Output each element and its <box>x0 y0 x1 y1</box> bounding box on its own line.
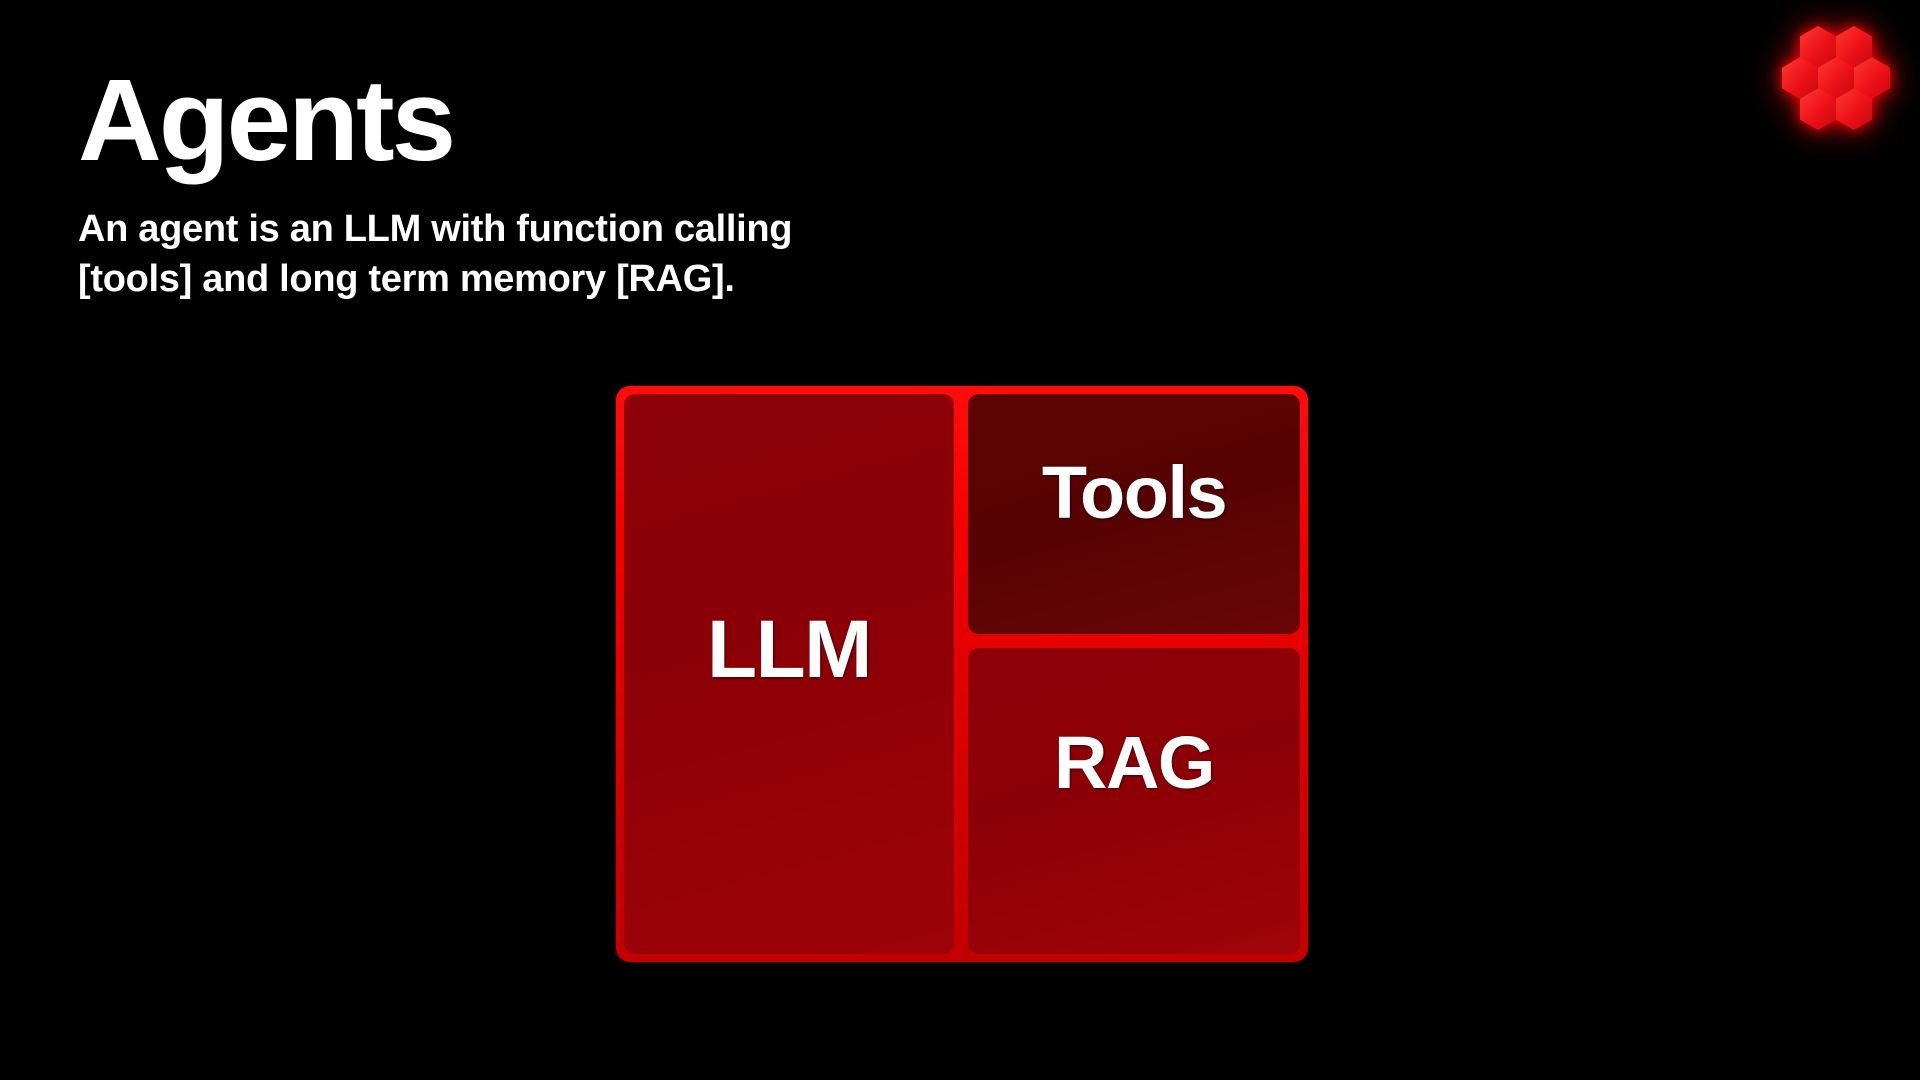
diagram-panel-tools-label: Tools <box>968 456 1300 530</box>
diagram-panel-llm-label: LLM <box>624 609 954 691</box>
diagram-panel-rag-label: RAG <box>968 726 1300 800</box>
title-block: Agents An agent is an LLM with function … <box>78 62 1178 304</box>
slide-subtitle: An agent is an LLM with function calling… <box>78 204 1018 304</box>
hexagon-flower-logo <box>1778 20 1900 142</box>
diagram-panel-tools[interactable]: Tools <box>968 394 1300 634</box>
diagram-right-column: Tools RAG <box>968 394 1300 954</box>
hexagon-flower-icon <box>1778 20 1900 142</box>
subtitle-line-1: An agent is an LLM with function calling <box>78 204 1018 254</box>
presentation-slide: Agents An agent is an LLM with function … <box>0 0 1920 1080</box>
agent-architecture-diagram: LLM Tools RAG <box>616 386 1308 962</box>
subtitle-line-2: [tools] and long term memory [RAG]. <box>78 254 1018 304</box>
diagram-panel-llm[interactable]: LLM <box>624 394 954 954</box>
page-title: Agents <box>78 62 1178 178</box>
diagram-panel-rag[interactable]: RAG <box>968 648 1300 954</box>
